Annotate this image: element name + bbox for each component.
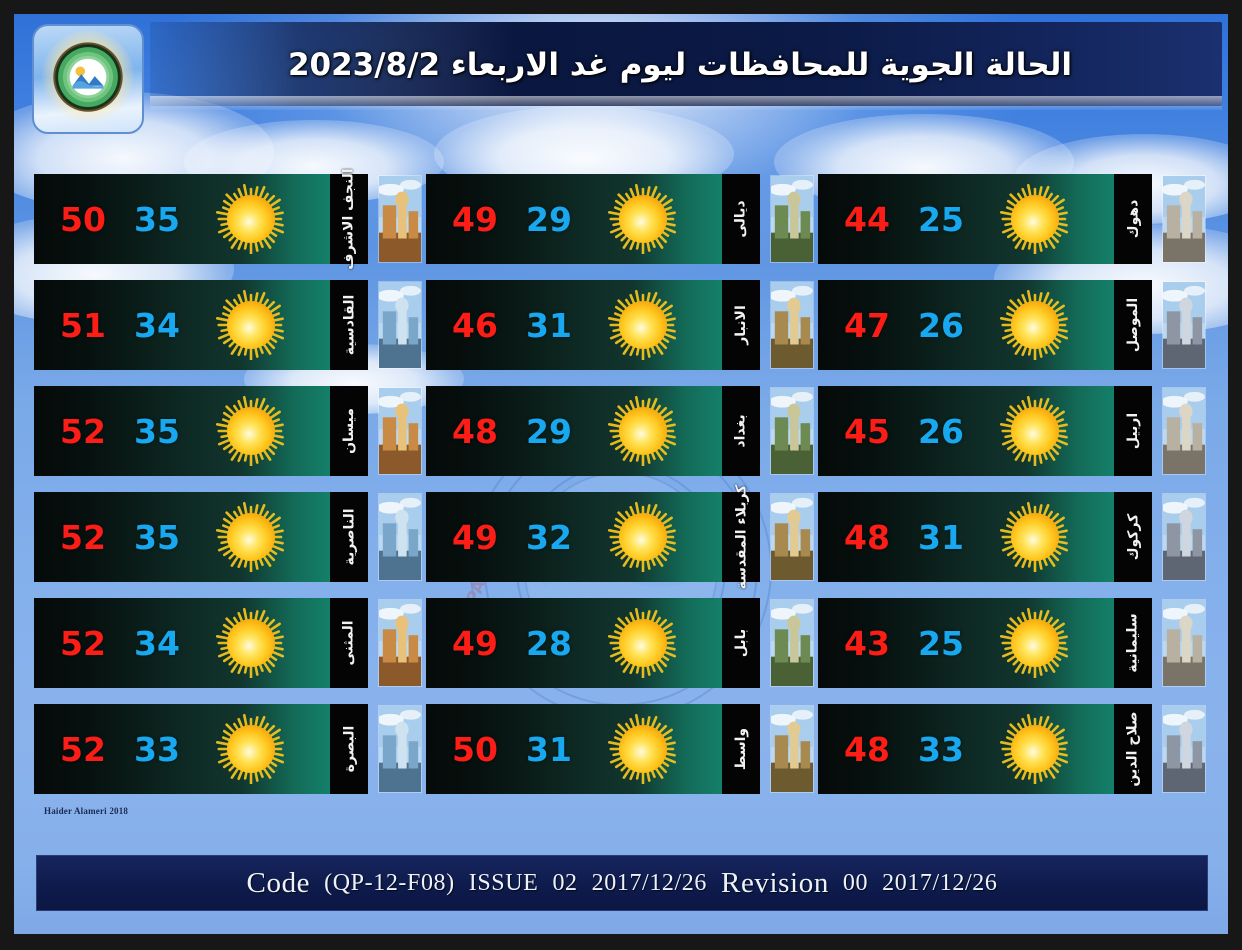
max-temperature: 52 xyxy=(60,730,106,769)
city-name-panel: بابل xyxy=(722,598,760,688)
city-name-label: المثنى xyxy=(341,620,357,665)
sunny-icon xyxy=(1000,714,1070,784)
city-name-panel: الناصرية xyxy=(330,492,368,582)
nasiriyah-river-photo xyxy=(378,493,422,581)
salahaddin-statue-photo xyxy=(1162,705,1206,793)
city-forecast-row: 5234 المثنى xyxy=(34,598,418,688)
footer-issue-value: 02 xyxy=(552,870,577,897)
basra-statue-photo xyxy=(378,705,422,793)
city-name-label: دهوك xyxy=(1125,200,1141,239)
sunny-icon xyxy=(1000,608,1070,678)
city-forecast-row: 5031 واسط xyxy=(426,704,810,794)
document-control-footer: Code (QP-12-F08) ISSUE 02 2017/12/26 Rev… xyxy=(36,855,1208,911)
sunny-icon xyxy=(216,184,286,254)
city-name-label: ديالى xyxy=(733,200,749,237)
author-credit: Haider Alameri 2018 xyxy=(44,806,128,816)
city-name-panel: كركوك xyxy=(1114,492,1152,582)
weather-authority-emblem-icon xyxy=(34,24,142,134)
forecast-card: 4932 xyxy=(426,492,722,582)
city-forecast-row: 4726 الموصل xyxy=(818,280,1202,370)
city-name-label: سليمانية xyxy=(1125,613,1141,672)
city-name-panel: دهوك xyxy=(1114,174,1152,264)
babylon-gate-photo xyxy=(770,599,814,687)
forecast-card: 5235 xyxy=(34,386,330,476)
sulaymaniyah-bridge-photo xyxy=(1162,599,1206,687)
min-temperature: 25 xyxy=(918,624,964,663)
najaf-shrine-photo xyxy=(378,175,422,263)
city-name-panel: النجف الاشرف xyxy=(330,174,368,264)
city-forecast-row: 4932 كربلاء المقدسة xyxy=(426,492,810,582)
sunny-icon xyxy=(608,714,678,784)
city-name-label: بغداد xyxy=(733,414,749,447)
max-temperature: 52 xyxy=(60,624,106,663)
forecast-card: 5134 xyxy=(34,280,330,370)
page-title: الحالة الجوية للمحافظات ليوم غد الاربعاء… xyxy=(150,30,1210,100)
city-name-label: الموصل xyxy=(1125,298,1141,352)
max-temperature: 48 xyxy=(844,518,890,557)
max-temperature: 44 xyxy=(844,200,890,239)
city-forecast-row: 4325 سليمانية xyxy=(818,598,1202,688)
max-temperature: 51 xyxy=(60,306,106,345)
city-forecast-row: 4425 دهوك xyxy=(818,174,1202,264)
sunny-icon xyxy=(608,290,678,360)
sunny-icon xyxy=(216,714,286,784)
sunny-icon xyxy=(216,502,286,572)
sunny-icon xyxy=(216,608,286,678)
karbala-shrine-photo xyxy=(770,493,814,581)
duhok-hills-photo xyxy=(1162,175,1206,263)
city-name-panel: ديالى xyxy=(722,174,760,264)
footer-revision-label: Revision xyxy=(721,867,829,900)
max-temperature: 49 xyxy=(452,200,498,239)
baghdad-monument-photo xyxy=(770,387,814,475)
forecast-card: 4526 xyxy=(818,386,1114,476)
city-name-label: النجف الاشرف xyxy=(341,168,357,269)
forecast-card: 4831 xyxy=(818,492,1114,582)
min-temperature: 35 xyxy=(134,200,180,239)
city-name-panel: واسط xyxy=(722,704,760,794)
min-temperature: 26 xyxy=(918,412,964,451)
forecast-card: 4425 xyxy=(818,174,1114,264)
min-temperature: 35 xyxy=(134,518,180,557)
city-forecast-row: 5235 الناصرية xyxy=(34,492,418,582)
max-temperature: 45 xyxy=(844,412,890,451)
min-temperature: 25 xyxy=(918,200,964,239)
city-forecast-row: 5233 البصرة xyxy=(34,704,418,794)
city-name-panel: بغداد xyxy=(722,386,760,476)
footer-revision-value: 00 xyxy=(843,870,868,897)
footer-issue-label: ISSUE xyxy=(469,870,539,897)
city-name-panel: القادسية xyxy=(330,280,368,370)
city-forecast-row: 4631 الانبار xyxy=(426,280,810,370)
sunny-icon xyxy=(608,396,678,466)
max-temperature: 48 xyxy=(452,412,498,451)
min-temperature: 31 xyxy=(526,730,572,769)
sunny-icon xyxy=(216,290,286,360)
forecast-card: 4929 xyxy=(426,174,722,264)
city-name-label: صلاح الدين xyxy=(1125,711,1141,786)
city-forecast-row: 4833 صلاح الدين xyxy=(818,704,1202,794)
min-temperature: 31 xyxy=(526,306,572,345)
max-temperature: 52 xyxy=(60,518,106,557)
city-name-panel: اربيل xyxy=(1114,386,1152,476)
city-name-panel: الموصل xyxy=(1114,280,1152,370)
sunny-icon xyxy=(1000,290,1070,360)
max-temperature: 47 xyxy=(844,306,890,345)
city-forecast-row: 4526 اربيل xyxy=(818,386,1202,476)
min-temperature: 29 xyxy=(526,412,572,451)
city-name-label: بابل xyxy=(733,629,749,657)
city-forecast-row: 4929 ديالى xyxy=(426,174,810,264)
min-temperature: 35 xyxy=(134,412,180,451)
min-temperature: 29 xyxy=(526,200,572,239)
forecast-card: 5233 xyxy=(34,704,330,794)
city-name-panel: البصرة xyxy=(330,704,368,794)
city-forecast-row: 5035 النجف الاشرف xyxy=(34,174,418,264)
sunny-icon xyxy=(608,502,678,572)
forecast-card: 4928 xyxy=(426,598,722,688)
min-temperature: 34 xyxy=(134,624,180,663)
city-name-label: كركوك xyxy=(1125,514,1141,561)
max-temperature: 50 xyxy=(452,730,498,769)
city-name-panel: سليمانية xyxy=(1114,598,1152,688)
max-temperature: 49 xyxy=(452,518,498,557)
city-forecast-row: 4928 بابل xyxy=(426,598,810,688)
forecast-card: 4631 xyxy=(426,280,722,370)
city-name-label: واسط xyxy=(733,728,749,770)
forecast-card: 4829 xyxy=(426,386,722,476)
kirkuk-tomb-photo xyxy=(1162,493,1206,581)
forecast-grid: 5035 النجف الاشرف 4929 ديالى xyxy=(34,166,1210,802)
max-temperature: 52 xyxy=(60,412,106,451)
city-name-label: الناصرية xyxy=(341,508,357,565)
city-name-panel: ميسان xyxy=(330,386,368,476)
footer-code-label: Code xyxy=(247,867,311,900)
maysan-tower-photo xyxy=(378,387,422,475)
diyala-garden-photo xyxy=(770,175,814,263)
min-temperature: 28 xyxy=(526,624,572,663)
min-temperature: 34 xyxy=(134,306,180,345)
city-forecast-row: 4829 بغداد xyxy=(426,386,810,476)
sunny-icon xyxy=(1000,502,1070,572)
min-temperature: 32 xyxy=(526,518,572,557)
organisation-logo xyxy=(32,24,144,134)
city-name-label: القادسية xyxy=(341,295,357,356)
city-name-panel: المثنى xyxy=(330,598,368,688)
wasit-arch-photo xyxy=(770,705,814,793)
max-temperature: 49 xyxy=(452,624,498,663)
weather-bulletin-page: AL AL PA ROU G N & G الحالة الجوية للمحا… xyxy=(0,0,1242,950)
city-name-label: البصرة xyxy=(341,726,357,773)
forecast-card: 4833 xyxy=(818,704,1114,794)
min-temperature: 31 xyxy=(918,518,964,557)
max-temperature: 46 xyxy=(452,306,498,345)
forecast-card: 5035 xyxy=(34,174,330,264)
sunny-icon xyxy=(216,396,286,466)
city-name-panel: الانبار xyxy=(722,280,760,370)
qadisiyah-monument-photo xyxy=(378,281,422,369)
city-forecast-row: 4831 كركوك xyxy=(818,492,1202,582)
city-name-panel: كربلاء المقدسة xyxy=(722,492,760,582)
mosul-minaret-photo xyxy=(1162,281,1206,369)
footer-revision-date: 2017/12/26 xyxy=(882,870,997,897)
forecast-card: 5031 xyxy=(426,704,722,794)
forecast-card: 5235 xyxy=(34,492,330,582)
sunny-icon xyxy=(1000,184,1070,254)
city-name-label: الانبار xyxy=(733,305,749,345)
city-name-label: كربلاء المقدسة xyxy=(733,485,749,590)
max-temperature: 50 xyxy=(60,200,106,239)
city-forecast-row: 5235 ميسان xyxy=(34,386,418,476)
footer-code-value: (QP-12-F08) xyxy=(324,870,455,897)
erbil-citadel-photo xyxy=(1162,387,1206,475)
forecast-card: 4726 xyxy=(818,280,1114,370)
min-temperature: 33 xyxy=(918,730,964,769)
anbar-waterwheel-photo xyxy=(770,281,814,369)
sunny-icon xyxy=(1000,396,1070,466)
min-temperature: 33 xyxy=(134,730,180,769)
sunny-icon xyxy=(608,184,678,254)
city-name-label: ميسان xyxy=(341,408,357,454)
muthanna-arch-photo xyxy=(378,599,422,687)
city-name-label: اربيل xyxy=(1125,413,1141,449)
max-temperature: 48 xyxy=(844,730,890,769)
min-temperature: 26 xyxy=(918,306,964,345)
max-temperature: 43 xyxy=(844,624,890,663)
city-forecast-row: 5134 القادسية xyxy=(34,280,418,370)
city-name-panel: صلاح الدين xyxy=(1114,704,1152,794)
footer-issue-date: 2017/12/26 xyxy=(592,870,707,897)
forecast-card: 4325 xyxy=(818,598,1114,688)
forecast-card: 5234 xyxy=(34,598,330,688)
sunny-icon xyxy=(608,608,678,678)
